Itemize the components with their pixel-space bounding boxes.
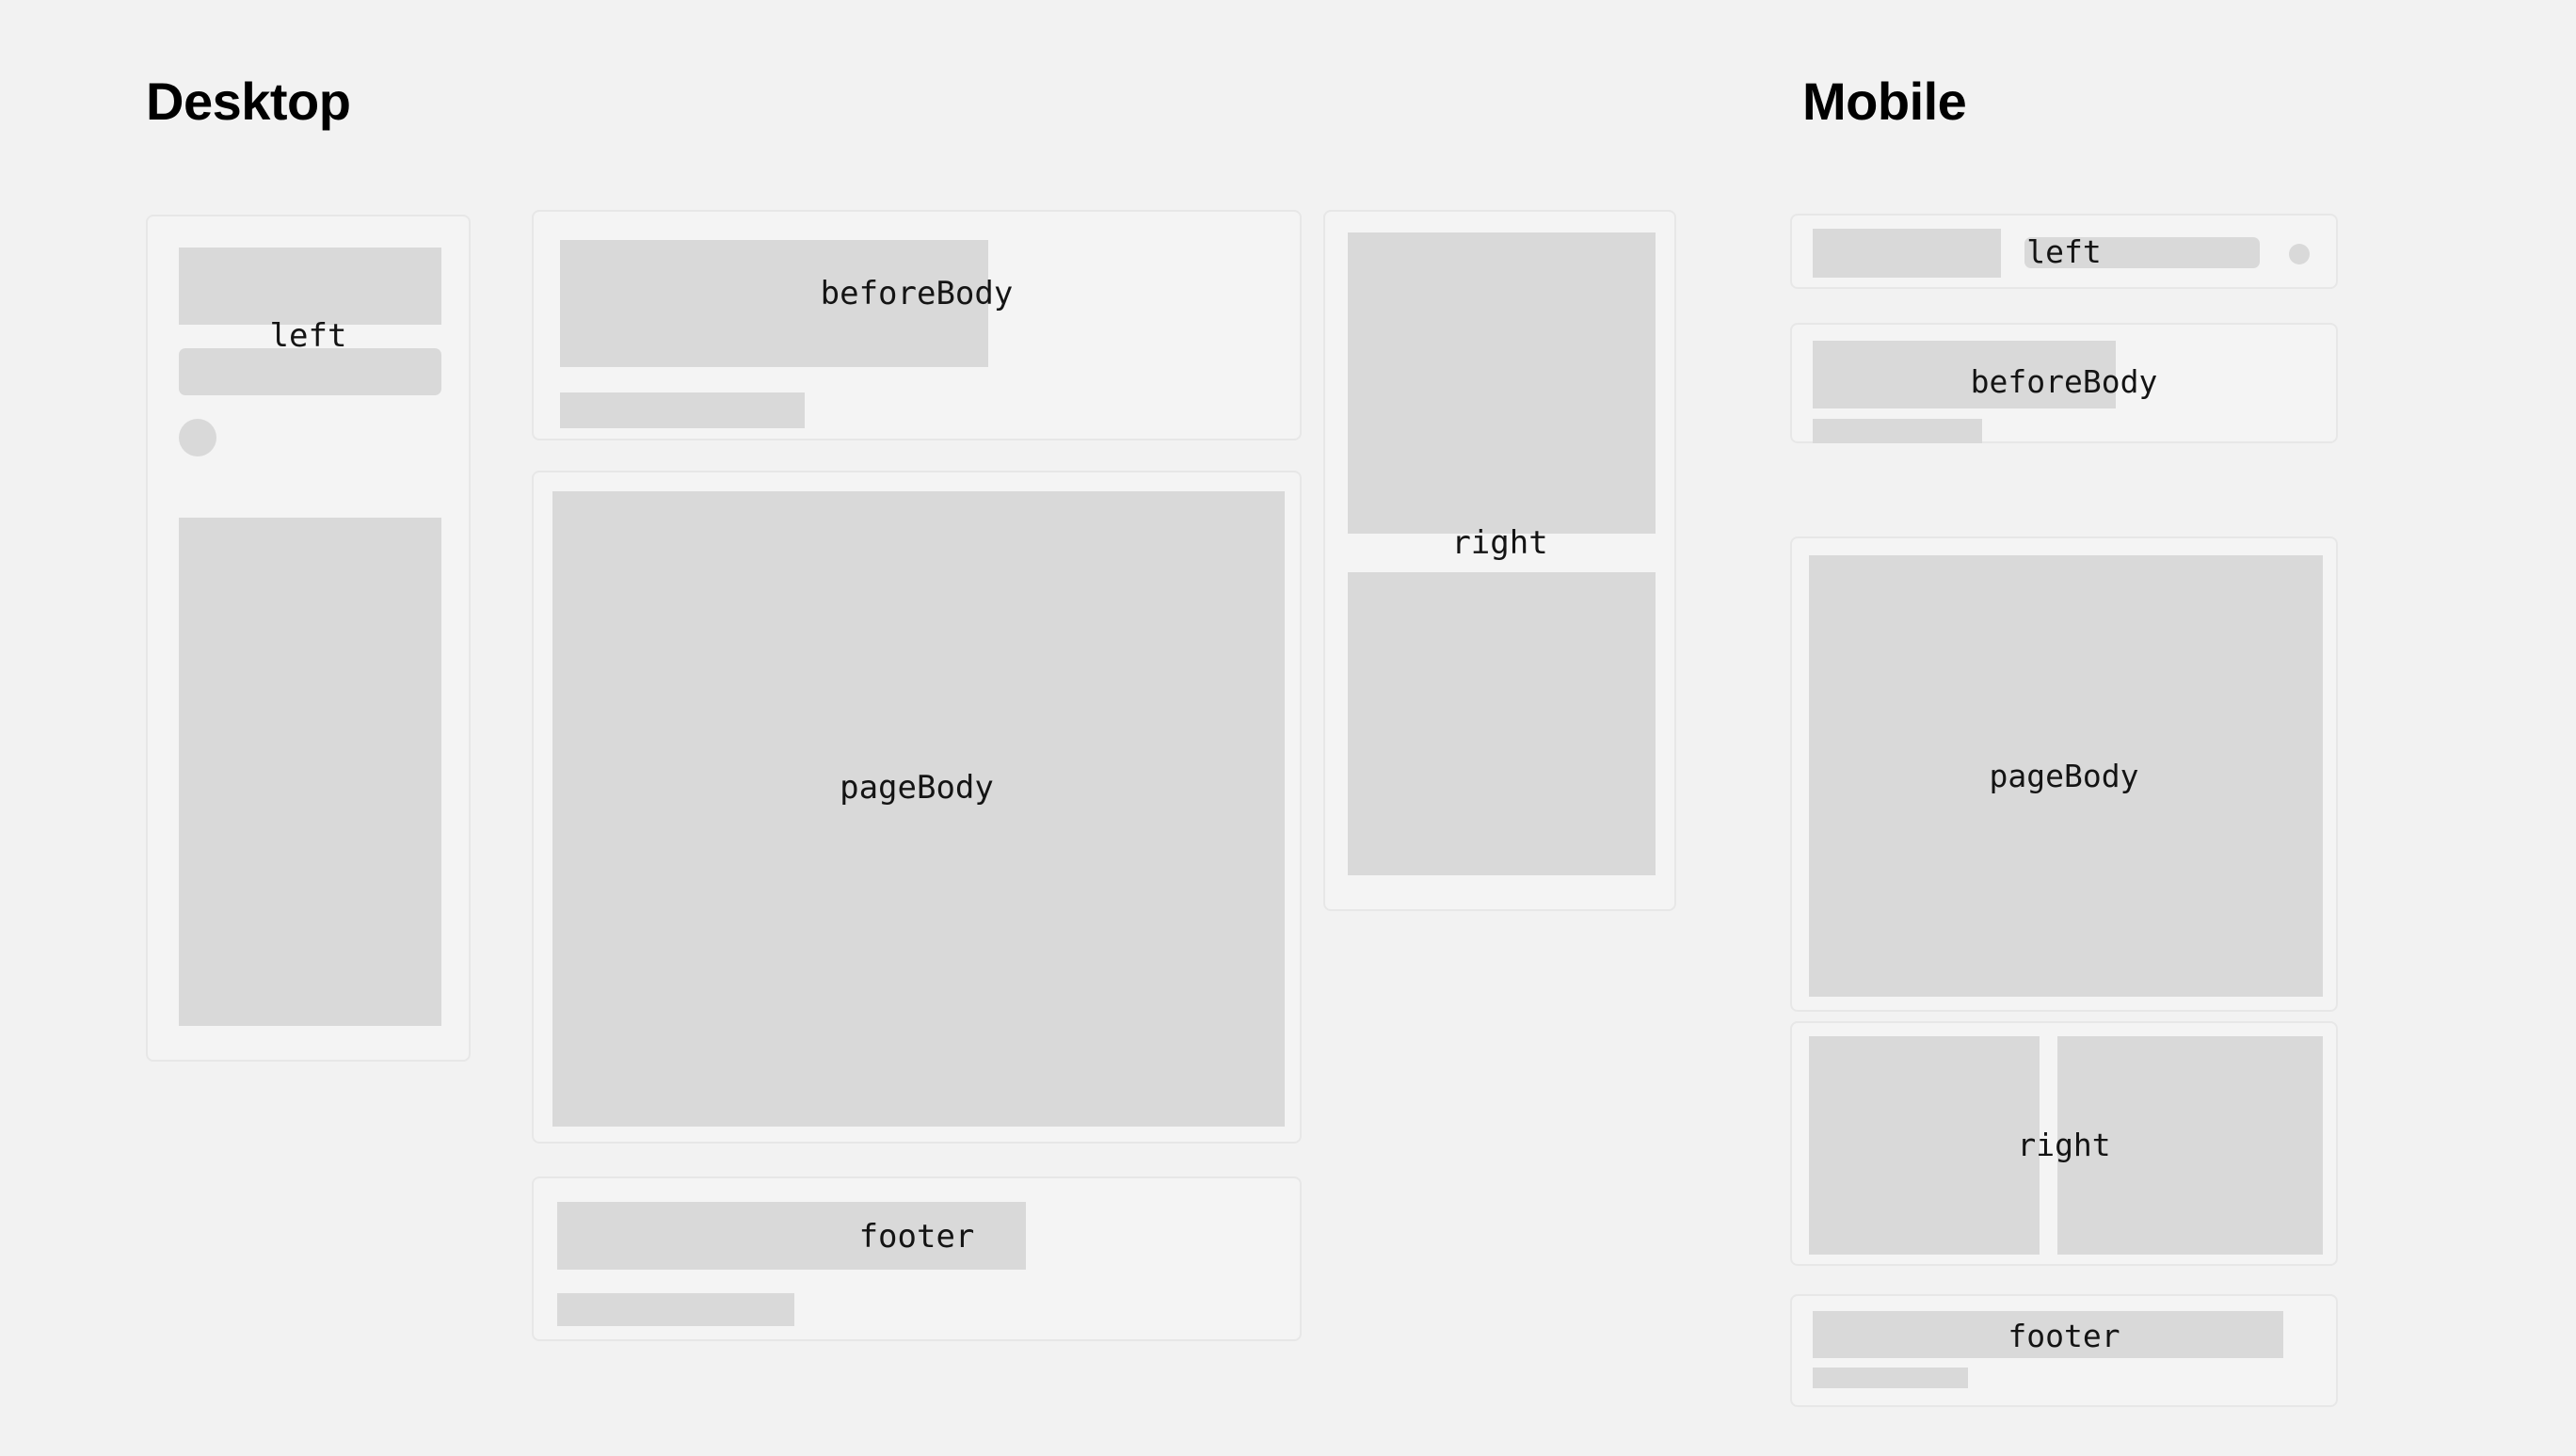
desktop-left-region-label: left (148, 320, 469, 352)
placeholder-block (557, 1293, 794, 1326)
placeholder-block (560, 392, 805, 428)
wireframe-canvas: Desktop left beforeBody pageBody footer … (0, 0, 2576, 1456)
placeholder-block (1348, 232, 1656, 534)
mobile-footer-region-card[interactable]: footer (1790, 1294, 2338, 1407)
placeholder-block (1813, 1368, 1968, 1388)
placeholder-block (179, 248, 441, 325)
placeholder-block (1813, 419, 1982, 443)
desktop-left-region-card[interactable]: left (146, 215, 471, 1062)
desktop-pagebody-region-card[interactable]: pageBody (532, 471, 1302, 1144)
placeholder-block (552, 491, 1285, 1127)
placeholder-block (1809, 1036, 2040, 1255)
placeholder-block (1813, 229, 2001, 278)
placeholder-circle (179, 419, 216, 456)
mobile-left-region-card[interactable]: left (1790, 214, 2338, 289)
mobile-section-title: Mobile (1802, 75, 1966, 128)
placeholder-block (557, 1202, 1026, 1270)
placeholder-circle (2289, 244, 2310, 264)
desktop-section-title: Desktop (146, 75, 350, 128)
placeholder-pill (2024, 237, 2260, 268)
desktop-right-region-card[interactable]: right (1323, 210, 1676, 911)
mobile-beforebody-region-card[interactable]: beforeBody (1790, 323, 2338, 443)
desktop-footer-region-card[interactable]: footer (532, 1176, 1302, 1341)
placeholder-block (560, 240, 988, 367)
mobile-pagebody-region-card[interactable]: pageBody (1790, 536, 2338, 1012)
placeholder-block (1813, 1311, 2283, 1358)
desktop-beforebody-region-card[interactable]: beforeBody (532, 210, 1302, 440)
placeholder-block (179, 518, 441, 1026)
placeholder-block (2057, 1036, 2323, 1255)
placeholder-block (1813, 341, 2116, 408)
placeholder-block (1809, 555, 2323, 997)
placeholder-pill (179, 348, 441, 395)
placeholder-block (1348, 572, 1656, 875)
mobile-right-region-card[interactable]: right (1790, 1021, 2338, 1266)
